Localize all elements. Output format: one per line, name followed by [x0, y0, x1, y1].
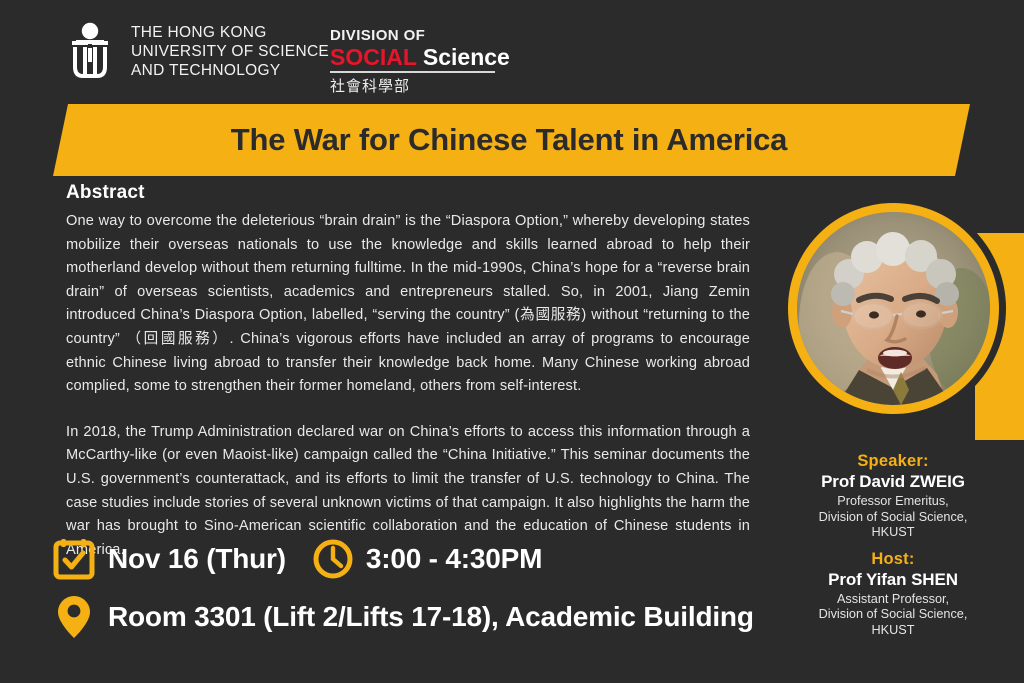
- title-banner: The War for Chinese Talent in America: [0, 104, 1024, 176]
- venue-row: Room 3301 (Lift 2/Lifts 17-18), Academic…: [52, 594, 792, 640]
- host-role-label: Host:: [790, 550, 996, 569]
- event-time: 3:00 - 4:30PM: [366, 543, 542, 575]
- dss-word-science: Science: [416, 44, 509, 70]
- location-pin-icon: [52, 594, 96, 640]
- avatar: [797, 212, 990, 405]
- people-info: Speaker: Prof David ZWEIG Professor Emer…: [790, 452, 996, 639]
- dss-chinese-name: 社會科學部: [330, 75, 510, 96]
- speaker-name: Prof David ZWEIG: [790, 472, 996, 492]
- abstract-heading: Abstract: [66, 182, 750, 204]
- host-affiliation: Assistant Professor, Division of Social …: [790, 592, 996, 639]
- hkust-wordmark: THE HONG KONG UNIVERSITY OF SCIENCE AND …: [131, 23, 329, 80]
- event-date: Nov 16 (Thur): [108, 543, 286, 575]
- host-name: Prof Yifan SHEN: [790, 570, 996, 590]
- dss-word-social: SOCIAL: [330, 44, 416, 70]
- hkust-crest-icon: [62, 22, 118, 80]
- dss-line-division-of: DIVISION OF: [330, 27, 510, 44]
- event-venue: Room 3301 (Lift 2/Lifts 17-18), Academic…: [108, 601, 754, 633]
- dss-underline-rule: [330, 71, 495, 73]
- division-of-social-science-logo: DIVISION OF SOCIAL Science 社會科學部: [330, 27, 510, 96]
- speaker-photo-frame: [788, 203, 999, 414]
- event-details: Nov 16 (Thur) 3:00 - 4:30PM Room 3301 (L…: [52, 536, 792, 640]
- speaker-affiliation: Professor Emeritus, Division of Social S…: [790, 494, 996, 541]
- page-title: The War for Chinese Talent in America: [0, 104, 1024, 176]
- clock-icon: [312, 538, 354, 580]
- speaker-role-label: Speaker:: [790, 452, 996, 471]
- calendar-check-icon: [52, 536, 96, 582]
- abstract-section: Abstract One way to overcome the deleter…: [66, 182, 750, 562]
- dss-line-social-science: SOCIAL Science: [330, 44, 510, 70]
- abstract-paragraph-1: One way to overcome the deleterious “bra…: [66, 210, 750, 399]
- header: THE HONG KONG UNIVERSITY OF SCIENCE AND …: [0, 0, 1024, 100]
- date-time-row: Nov 16 (Thur) 3:00 - 4:30PM: [52, 536, 792, 582]
- hkust-logo: THE HONG KONG UNIVERSITY OF SCIENCE AND …: [62, 22, 329, 80]
